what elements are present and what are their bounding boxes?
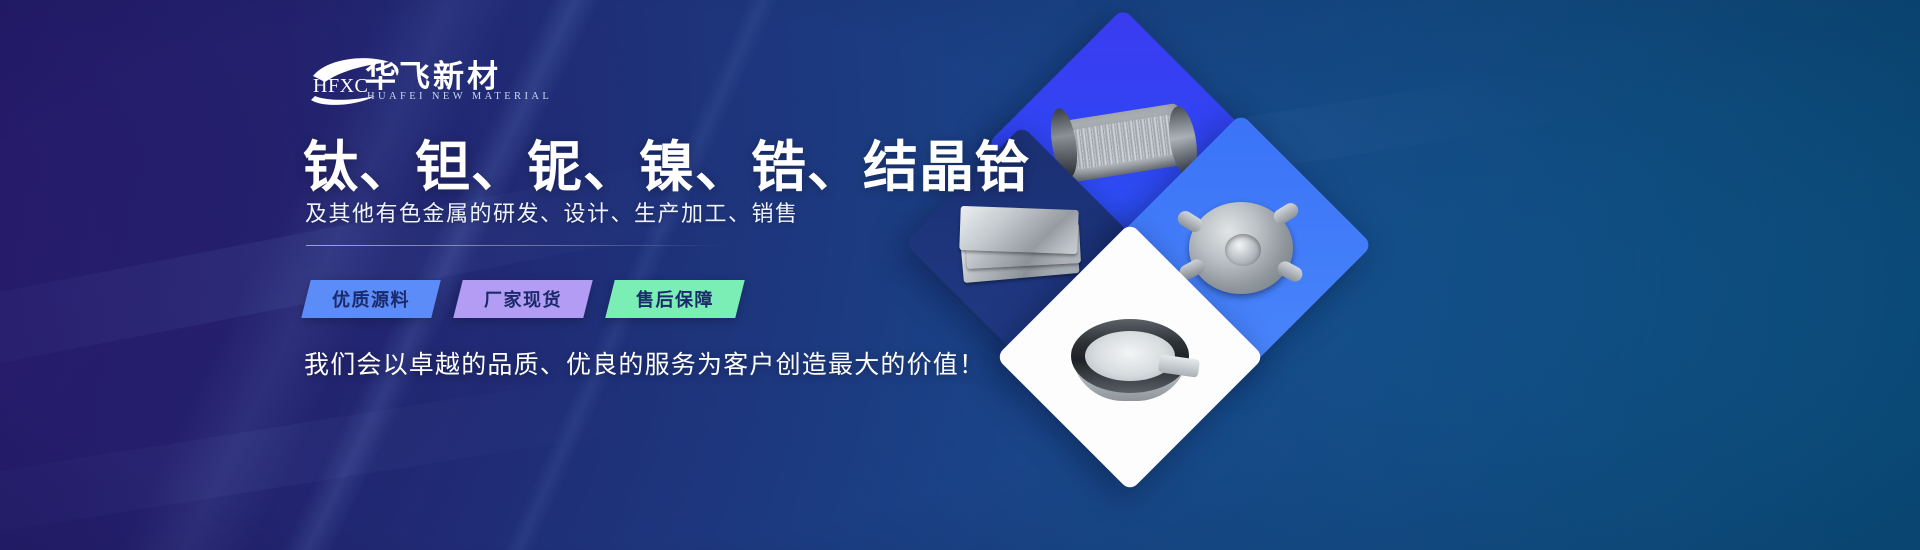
brand-name-cn: 华飞新材 <box>365 51 501 96</box>
feature-badge-label: 售后保障 <box>636 286 714 312</box>
brand-name-en: HUAFEI NEW MATERIAL <box>367 91 552 102</box>
hero-headline: 钛、钽、铌、镍、锆、结晶铪 <box>303 122 1031 202</box>
feature-badge-quality-material[interactable]: 优质源料 <box>301 280 440 318</box>
feature-badge-label: 优质源料 <box>332 286 410 312</box>
hero-subtitle: 及其他有色金属的研发、设计、生产加工、销售 <box>305 196 799 228</box>
feature-badge-factory-stock[interactable]: 厂家现货 <box>453 280 592 318</box>
banner-content: HFXC 华飞新材 HUAFEI NEW MATERIAL 钛、钽、铌、镍、锆、… <box>0 0 1000 550</box>
machined-metal-part-image <box>1173 188 1309 302</box>
promotional-banner: HFXC 华飞新材 HUAFEI NEW MATERIAL 钛、钽、铌、镍、锆、… <box>0 0 1920 550</box>
section-divider <box>306 245 726 246</box>
hero-slogan: 我们会以卓越的品质、优良的服务为客户创造最大的价值！ <box>304 345 985 381</box>
metal-foil-roll-image <box>1063 305 1197 409</box>
feature-badge-after-sales[interactable]: 售后保障 <box>605 280 744 318</box>
feature-badge-group: 优质源料 厂家现货 售后保障 <box>306 280 740 318</box>
brand-logo[interactable]: HFXC 华飞新材 HUAFEI NEW MATERIAL <box>305 48 635 110</box>
product-image-collage <box>855 0 1920 550</box>
feature-badge-label: 厂家现货 <box>484 286 562 312</box>
svg-text:HFXC: HFXC <box>313 75 368 97</box>
